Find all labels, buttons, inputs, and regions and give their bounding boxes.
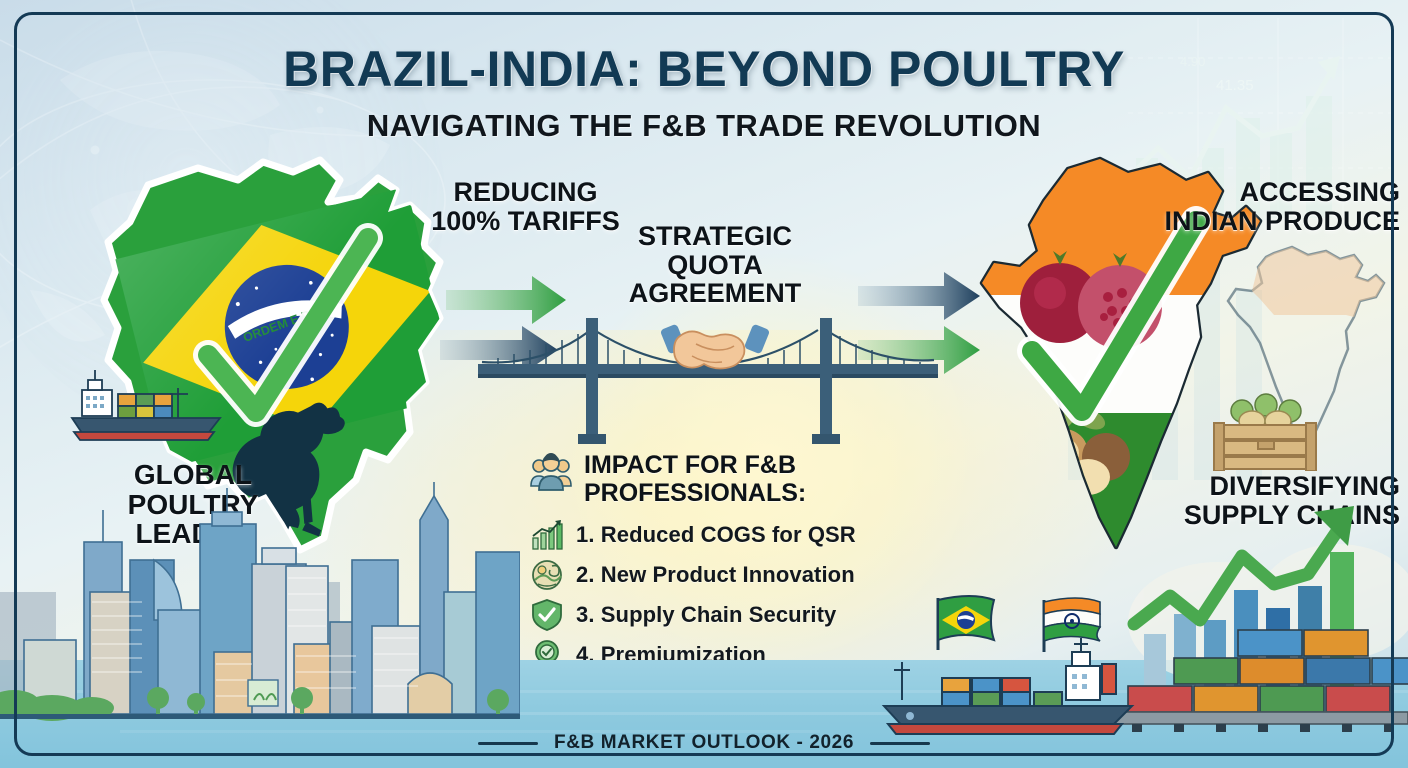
- banner-rule-left: [478, 742, 538, 745]
- callout-line: REDUCING: [418, 178, 633, 207]
- page-subtitle: NAVIGATING THE F&B TRADE REVOLUTION: [0, 108, 1408, 144]
- impact-item-label: 2. New Product Innovation: [576, 562, 855, 588]
- page-title: BRAZIL-INDIA: BEYOND POULTRY: [0, 40, 1408, 98]
- impact-heading: IMPACT FOR F&B PROFESSIONALS:: [530, 452, 950, 507]
- callout-line: ACCESSING: [1150, 178, 1400, 207]
- banner-rule-right: [870, 742, 930, 745]
- food-plate-icon: [530, 558, 564, 592]
- callout-strategic-quota: STRATEGIC QUOTA AGREEMENT: [610, 222, 820, 308]
- callout-accessing-indian-produce: ACCESSING INDIAN PRODUCE: [1150, 178, 1400, 235]
- growth-chart-icon: [530, 518, 564, 552]
- impact-heading-line: PROFESSIONALS:: [584, 480, 806, 508]
- impact-heading-text: IMPACT FOR F&B PROFESSIONALS:: [584, 452, 806, 507]
- produce-crate-icon: [1210, 385, 1320, 471]
- callout-line: DIVERSIFYING: [1120, 472, 1400, 501]
- footer-text: F&B MARKET OUTLOOK - 2026: [554, 732, 854, 754]
- footer-banner: F&B MARKET OUTLOOK - 2026: [0, 732, 1408, 754]
- infographic-canvas: 4.90 41.35: [0, 0, 1408, 768]
- impact-item-label: 3. Supply Chain Security: [576, 602, 836, 628]
- callout-line: QUOTA: [610, 251, 820, 280]
- brazil-flag-icon: [938, 596, 994, 650]
- india-flag-icon: [1044, 598, 1100, 652]
- impact-item: 1. Reduced COGS for QSR: [530, 515, 950, 555]
- people-group-icon: [530, 452, 572, 494]
- shield-check-icon: [530, 598, 564, 632]
- container-ship-icon: [70, 368, 225, 446]
- impact-item: 2. New Product Innovation: [530, 555, 950, 595]
- container-ship-icon: [880, 590, 1145, 740]
- impact-item-label: 1. Reduced COGS for QSR: [576, 522, 856, 548]
- callout-reducing-tariffs: REDUCING 100% TARIFFS: [418, 178, 633, 235]
- city-skyline-icon: [0, 482, 520, 732]
- callout-line: 100% TARIFFS: [418, 207, 633, 236]
- handshake-icon: [660, 312, 770, 378]
- callout-line: AGREEMENT: [610, 279, 820, 308]
- callout-line: STRATEGIC: [610, 222, 820, 251]
- impact-heading-line: IMPACT FOR F&B: [584, 452, 806, 480]
- rising-bar-chart-icon: [1108, 502, 1408, 732]
- callout-line: INDIAN PRODUCE: [1150, 207, 1400, 236]
